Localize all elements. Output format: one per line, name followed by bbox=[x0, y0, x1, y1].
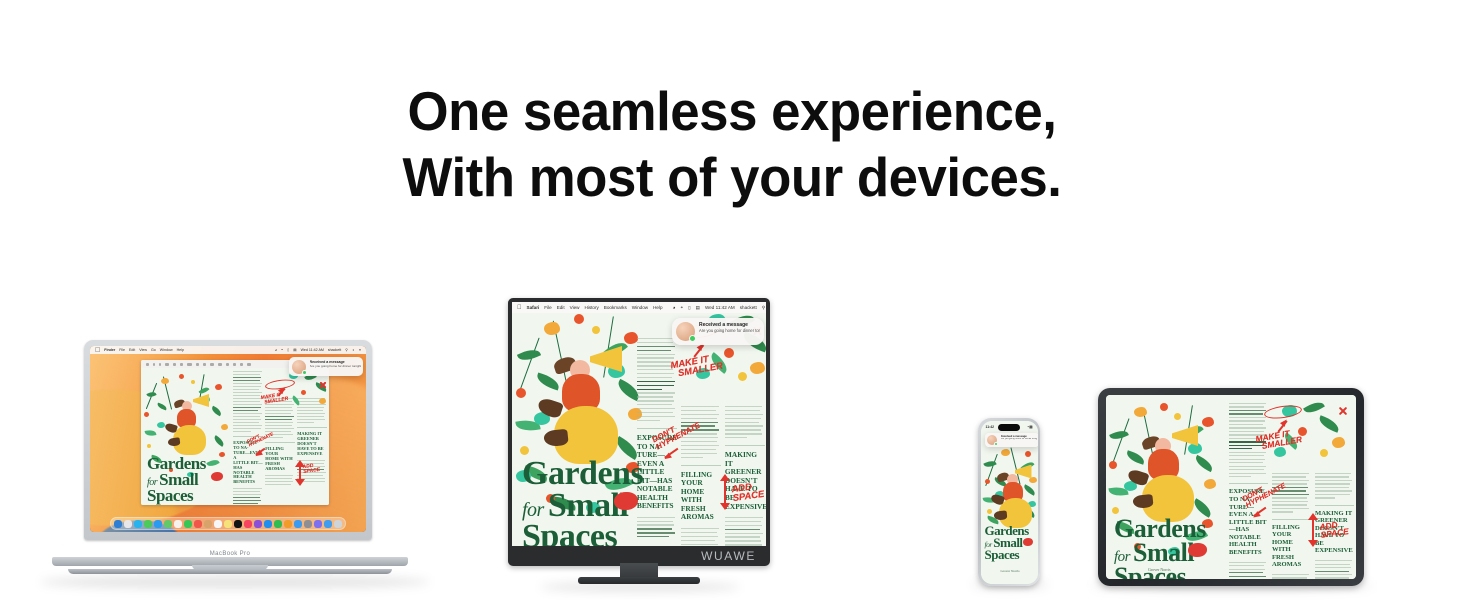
back-icon[interactable] bbox=[153, 363, 155, 366]
dock-item-mail[interactable] bbox=[154, 520, 162, 528]
magazine-illustration-monitor: Gardens for Small Spaces bbox=[512, 302, 634, 546]
magazine-illustration: Gardens for Small Spaces bbox=[141, 368, 231, 505]
monitor-foot bbox=[578, 577, 700, 584]
menu-item-file[interactable]: File bbox=[544, 305, 551, 310]
crop-icon[interactable] bbox=[173, 363, 176, 366]
dock-item-reminders[interactable] bbox=[214, 520, 222, 528]
magazine-spread-monitor: Gardens for Small Spaces bbox=[512, 302, 766, 546]
dock-item-calendar[interactable] bbox=[194, 520, 202, 528]
messages-app-badge bbox=[302, 370, 307, 375]
magazine-heading-3: MAKING IT GREENER DOESN'T HAVE TO BE EXP… bbox=[297, 432, 327, 457]
magazine-title: Gardens for Small Spaces bbox=[147, 456, 206, 503]
magazine-spread-tablet: Gardens for Small Spaces Grover Norris bbox=[1106, 395, 1356, 579]
phone-clock: 11:42 bbox=[986, 425, 994, 429]
dock-item-safari[interactable] bbox=[134, 520, 142, 528]
dock-item-tv[interactable] bbox=[234, 520, 242, 528]
illustration-boot-2 bbox=[993, 510, 1007, 520]
tablet-body: Gardens for Small Spaces Grover Norris bbox=[1098, 388, 1364, 586]
headline-line-2: With most of your devices. bbox=[29, 144, 1434, 210]
magazine-columns: EXPOSURE TO NA- TURE—EVEN A LITTLE BIT—H… bbox=[231, 368, 329, 505]
double-arrow-mark bbox=[299, 466, 301, 480]
signature-icon[interactable] bbox=[218, 363, 222, 366]
apple-icon[interactable]:  bbox=[517, 305, 522, 311]
dock-item-settings[interactable] bbox=[304, 520, 312, 528]
dynamic-island bbox=[998, 424, 1020, 431]
laptop-lid:  Finder File Edit View Go Window Help ◕… bbox=[84, 340, 372, 540]
zoom-icon[interactable] bbox=[165, 363, 169, 366]
laptop-notification[interactable]: Received a message Are you going home fo… bbox=[289, 357, 363, 376]
control-center-icon-2[interactable]: ≡ bbox=[359, 348, 361, 352]
dock-item-pages[interactable] bbox=[284, 520, 292, 528]
highlight-icon[interactable] bbox=[210, 363, 214, 366]
phone-body: 11:42 ◓▤ bbox=[978, 418, 1040, 586]
tablet-screen[interactable]: Gardens for Small Spaces Grover Norris bbox=[1106, 395, 1356, 579]
monitor-menu-bar[interactable]:  Safari File Edit View History Bookmark… bbox=[512, 302, 766, 313]
text-icon[interactable] bbox=[196, 363, 199, 366]
menu-item-help[interactable]: Help bbox=[177, 348, 184, 352]
sidebar-icon[interactable] bbox=[146, 363, 149, 366]
screen-mirroring-icon[interactable]: ▯ bbox=[287, 348, 289, 352]
apple-icon[interactable]:  bbox=[95, 347, 100, 354]
laptop-dock[interactable] bbox=[110, 517, 346, 530]
wifi-icon[interactable]: ◓ bbox=[680, 305, 683, 310]
info-icon[interactable] bbox=[240, 363, 243, 366]
dock-item-finder[interactable] bbox=[114, 520, 122, 528]
monitor-brand-label: WUAWE bbox=[701, 549, 756, 563]
menu-item-help[interactable]: Help bbox=[653, 305, 662, 310]
forward-icon[interactable] bbox=[159, 363, 161, 366]
phone-status-icons: ◓▤ bbox=[1027, 425, 1032, 429]
search-icon-2[interactable] bbox=[233, 363, 236, 366]
magazine-column-1: EXPOSURE TO NA- TURE—EVEN A LITTLE BIT—H… bbox=[637, 302, 677, 546]
dock-item-keynote[interactable] bbox=[294, 520, 302, 528]
menu-bar-user[interactable]: shackett bbox=[328, 348, 341, 352]
notification-body: Are you going home for dinner tonight bbox=[1001, 438, 1037, 440]
menu-item-edit[interactable]: Edit bbox=[129, 348, 135, 352]
dock-item-preview[interactable] bbox=[314, 520, 322, 528]
add-space-annotation: ADD SPACE bbox=[731, 480, 765, 503]
magazine-title-line-3: Spaces bbox=[147, 488, 206, 504]
dock-item-numbers[interactable] bbox=[274, 520, 282, 528]
messages-app-badge bbox=[994, 442, 998, 446]
control-center-icon[interactable]: ◕ bbox=[275, 348, 277, 352]
monitor-screen[interactable]: Gardens for Small Spaces bbox=[512, 302, 766, 546]
menu-bar-clock[interactable]: Wed 11:42 AM bbox=[301, 348, 324, 352]
menu-item-window[interactable]: Window bbox=[632, 305, 648, 310]
dock-item-trash[interactable] bbox=[334, 520, 342, 528]
contact-avatar bbox=[676, 322, 695, 341]
menu-item-go[interactable]: Go bbox=[151, 348, 156, 352]
dock-item-maps[interactable] bbox=[164, 520, 172, 528]
messages-app-badge bbox=[689, 335, 696, 342]
promo-banner: One seamless experience, With most of yo… bbox=[0, 0, 1464, 600]
menu-item-view[interactable]: View bbox=[570, 305, 580, 310]
dock-item-photos[interactable] bbox=[174, 520, 182, 528]
screen-mirroring-icon[interactable]: ▯ bbox=[688, 305, 691, 311]
menu-item-safari[interactable]: Safari bbox=[527, 305, 540, 310]
page-title: One seamless experience, With most of yo… bbox=[29, 78, 1434, 210]
dock-item-music[interactable] bbox=[244, 520, 252, 528]
illustration-horn bbox=[193, 394, 209, 407]
monitor-notification[interactable]: Received a message Are you going home fo… bbox=[672, 318, 764, 345]
laptop-base-bottom bbox=[68, 569, 392, 574]
magazine-spread-phone: Gardens for Small Spaces Grover Norris bbox=[981, 421, 1038, 584]
wifi-icon[interactable]: ◓ bbox=[281, 348, 283, 352]
magazine-illustration-tablet: Gardens for Small Spaces Grover Norris bbox=[1106, 395, 1226, 579]
dock-item-facetime[interactable] bbox=[184, 520, 192, 528]
dock-item-contacts[interactable] bbox=[204, 520, 212, 528]
double-arrow-mark bbox=[1312, 519, 1314, 541]
title-scribble bbox=[211, 472, 223, 481]
menu-item-view[interactable]: View bbox=[139, 348, 147, 352]
phone-screen[interactable]: 11:42 ◓▤ bbox=[981, 421, 1038, 584]
add-space-annotation: ADD SPACE bbox=[1319, 519, 1349, 540]
magazine-columns-tablet: EXPOSURE TO NA- TURE—EVEN A LITTLE BIT—H… bbox=[1226, 395, 1356, 579]
illustration-boot-1 bbox=[164, 422, 178, 433]
laptop-document-window[interactable]: Gardens for Small Spaces bbox=[141, 360, 329, 505]
monitor-bezel: Gardens for Small Spaces bbox=[508, 298, 770, 566]
magazine-heading-2: FILLING YOUR HOME WITH FRESH AROMAS bbox=[681, 471, 721, 522]
siri-icon[interactable]: ⚬ bbox=[352, 348, 355, 352]
shapes-icon[interactable] bbox=[203, 363, 206, 366]
x-mark bbox=[319, 380, 327, 388]
contact-avatar bbox=[987, 435, 997, 445]
title-scribble-tablet bbox=[1188, 543, 1207, 557]
device-laptop[interactable]:  Finder File Edit View Go Window Help ◕… bbox=[52, 340, 408, 588]
more-icon[interactable] bbox=[247, 363, 251, 366]
dock-item-screenshot[interactable] bbox=[324, 520, 332, 528]
magazine-heading-1: EXPOSURE TO NA- TURE—EVEN A LITTLE BIT—H… bbox=[233, 441, 263, 485]
magazine-heading-2: FILLING YOUR HOME WITH FRESH AROMAS bbox=[1272, 524, 1311, 569]
magazine-byline: Grover Norris bbox=[1148, 567, 1171, 572]
x-mark bbox=[1338, 405, 1348, 415]
title-scribble-phone bbox=[1023, 538, 1033, 546]
menu-item-file[interactable]: File bbox=[119, 348, 125, 352]
laptop-menu-bar[interactable]:  Finder File Edit View Go Window Help ◕… bbox=[90, 346, 366, 354]
control-center-icon[interactable]: ◕ bbox=[673, 305, 676, 310]
menu-bar-user[interactable]: shackett bbox=[740, 305, 757, 310]
battery-icon[interactable]: ▤ bbox=[293, 348, 296, 352]
laptop-screen[interactable]:  Finder File Edit View Go Window Help ◕… bbox=[90, 346, 366, 532]
notification-body: Are you going home for dinner tonight bbox=[699, 328, 760, 333]
search-icon[interactable]: ⚲ bbox=[345, 348, 348, 352]
search-icon[interactable]: ⚲ bbox=[762, 305, 765, 311]
device-phone[interactable]: 11:42 ◓▤ bbox=[978, 418, 1040, 586]
dock-item-messages[interactable] bbox=[144, 520, 152, 528]
menu-item-edit[interactable]: Edit bbox=[557, 305, 565, 310]
laptop-brand-label: MacBook Pro bbox=[52, 551, 408, 557]
menu-bar-clock[interactable]: Wed 11:42 AM bbox=[705, 305, 735, 310]
device-tablet[interactable]: Gardens for Small Spaces Grover Norris bbox=[1098, 388, 1364, 586]
dock-item-appstore[interactable] bbox=[264, 520, 272, 528]
magazine-heading-2: FILLING YOUR HOME WITH FRESH AROMAS bbox=[265, 447, 295, 472]
battery-icon[interactable]: ▤ bbox=[696, 305, 700, 311]
notification-body: Are you going home for dinner tonight bbox=[310, 364, 361, 368]
dock-item-notes[interactable] bbox=[224, 520, 232, 528]
markup-icon[interactable] bbox=[187, 363, 192, 366]
menu-item-finder[interactable]: Finder bbox=[104, 348, 115, 352]
dock-item-launchpad[interactable] bbox=[124, 520, 132, 528]
magazine-byline: Grover Norris bbox=[1001, 569, 1020, 573]
menu-item-history[interactable]: History bbox=[584, 305, 598, 310]
dock-item-podcasts[interactable] bbox=[254, 520, 262, 528]
menu-item-window[interactable]: Window bbox=[160, 348, 173, 352]
share-icon[interactable] bbox=[226, 363, 229, 366]
device-monitor[interactable]: Gardens for Small Spaces bbox=[508, 298, 770, 590]
headline-line-1: One seamless experience, bbox=[29, 78, 1434, 144]
contact-avatar bbox=[292, 360, 306, 374]
rotate-icon[interactable] bbox=[180, 363, 183, 366]
magazine-spread-laptop: Gardens for Small Spaces bbox=[141, 368, 329, 505]
double-arrow-mark bbox=[724, 480, 726, 504]
phone-notification[interactable]: Received a message Are you going home fo… bbox=[985, 433, 1038, 447]
menu-item-bookmarks[interactable]: Bookmarks bbox=[604, 305, 627, 310]
